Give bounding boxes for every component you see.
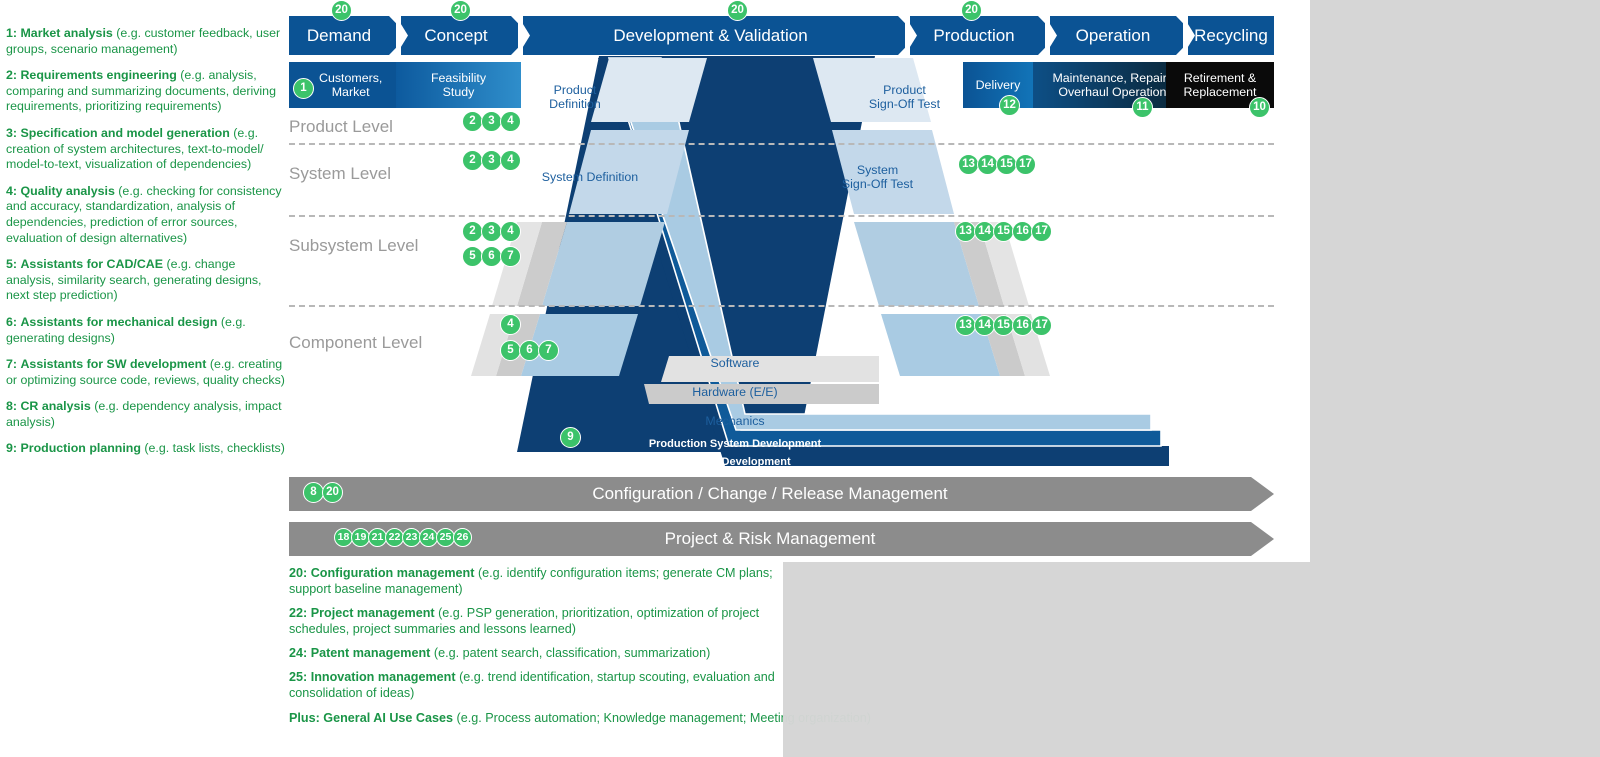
level-label-subsystem: Subsystem Level (289, 236, 418, 256)
level-label-component: Component Level (289, 333, 422, 353)
badge-4: 4 (500, 221, 521, 242)
badge-4: 4 (500, 111, 521, 132)
badge-14: 14 (974, 315, 995, 336)
banner-configuration-change-release[interactable]: Configuration / Change / Release Managem… (289, 477, 1251, 511)
banner-badges-configuration: 8 20 (303, 482, 341, 503)
legend-title: Project management (311, 606, 435, 620)
phase-demand[interactable]: Demand (289, 16, 389, 55)
legend-item: 22: Project management (e.g. PSP generat… (289, 605, 779, 637)
badge-8: 8 (303, 482, 324, 503)
level-divider (289, 215, 1274, 217)
fade-overlay-panel (783, 562, 1310, 757)
badge-3: 3 (481, 111, 502, 132)
legend-num: 1: (6, 26, 17, 40)
legend-num: 25: (289, 670, 307, 684)
legend-num: 20: (289, 566, 307, 580)
badge-2: 2 (462, 111, 483, 132)
legend-num: 4: (6, 184, 17, 198)
phase-label: Demand (307, 26, 371, 46)
phase-production[interactable]: Production (910, 16, 1038, 55)
legend-detail: (e.g. task lists, checklists) (144, 441, 284, 455)
badge-14: 14 (974, 221, 995, 242)
badge-20: 20 (727, 0, 748, 21)
v-label-system-signoff: System Sign-Off Test (825, 163, 930, 191)
cluster-production-planning: 9 (560, 427, 579, 448)
badge-13: 13 (958, 154, 979, 175)
legend-num: Plus: (289, 711, 320, 725)
badge-17: 17 (1031, 221, 1052, 242)
legend-title: Assistants for SW development (20, 357, 206, 371)
badge-3: 3 (481, 221, 502, 242)
phase-concept[interactable]: Concept (401, 16, 511, 55)
phase-ribbon: Demand Concept Development & Validation … (289, 16, 1274, 55)
phase-badge-demand: 20 (331, 0, 352, 21)
v-label-product-definition: Product Definition (530, 83, 620, 111)
phase-recycling[interactable]: Recycling (1188, 16, 1274, 55)
cluster-component-left-b: 5 6 7 (500, 340, 557, 361)
legend-title: Quality analysis (20, 184, 114, 198)
badge-6: 6 (519, 340, 540, 361)
phase-label: Production (933, 26, 1014, 46)
phase-badge-production: 20 (961, 0, 982, 21)
legend-num: 6: (6, 315, 17, 329)
badge-7: 7 (500, 246, 521, 267)
v-label-system-definition: System Definition (530, 170, 650, 184)
badge-9: 9 (560, 427, 581, 448)
phase-operation[interactable]: Operation (1050, 16, 1176, 55)
legend-item: 5: Assistants for CAD/CAE (e.g. change a… (6, 257, 286, 304)
badge-17: 17 (1031, 315, 1052, 336)
legend-item: 1: Market analysis (e.g. customer feedba… (6, 26, 286, 57)
badge-26: 26 (453, 528, 472, 547)
badge-16: 16 (1012, 315, 1033, 336)
phase-label: Concept (424, 26, 487, 46)
legend-title: Assistants for mechanical design (20, 315, 217, 329)
badge-2: 2 (462, 150, 483, 171)
stage-badge-retirement: 10 (1249, 97, 1268, 118)
stage-label: Delivery (976, 78, 1021, 92)
legend-item: 2: Requirements engineering (e.g. analys… (6, 68, 286, 115)
badge-5: 5 (462, 246, 483, 267)
phase-label: Operation (1076, 26, 1151, 46)
stage-label: Feasibility Study (431, 71, 486, 99)
banner-label: Project & Risk Management (665, 529, 876, 549)
banner-badges-project-risk: 18 19 21 22 23 24 25 26 (334, 528, 470, 547)
badge-2: 2 (462, 221, 483, 242)
cluster-subsystem-left-a: 2 3 4 (462, 221, 519, 242)
stage-label: Retirement & Replacement (1183, 71, 1256, 99)
v-label-product-signoff: Product Sign-Off Test (852, 83, 957, 111)
legend-title: Requirements engineering (20, 68, 176, 82)
legend-item: 9: Production planning (e.g. task lists,… (6, 441, 286, 457)
cluster-component-right: 13 14 15 16 17 (955, 315, 1050, 336)
v-label-production-system-dev: Production System Development (640, 437, 830, 451)
badge-3: 3 (481, 150, 502, 171)
v-label-hardware: Hardware (E/E) (675, 385, 795, 399)
badge-7: 7 (538, 340, 559, 361)
stage-badge-customers: 1 (293, 78, 312, 99)
stage-badge-delivery: 12 (999, 95, 1018, 116)
v-label-software: Software (685, 356, 785, 370)
legend-num: 3: (6, 126, 17, 140)
phase-badge-concept: 20 (450, 0, 471, 21)
bottom-legend: 20: Configuration management (e.g. ident… (289, 565, 779, 709)
badge-20: 20 (322, 482, 343, 503)
legend-item: 3: Specification and model generation (e… (6, 126, 286, 173)
legend-item: 7: Assistants for SW development (e.g. c… (6, 357, 286, 388)
legend-title: Production planning (20, 441, 140, 455)
legend-item: 25: Innovation management (e.g. trend id… (289, 669, 779, 701)
level-label-product: Product Level (289, 117, 393, 137)
badge-16: 16 (1012, 221, 1033, 242)
legend-num: 5: (6, 257, 17, 271)
badge-20: 20 (331, 0, 352, 21)
cluster-system-right: 13 14 15 17 (958, 154, 1034, 175)
badge-13: 13 (955, 315, 976, 336)
level-divider (289, 305, 1274, 307)
stage-label: Customers, Market (319, 71, 382, 99)
stage-badge-mro: 11 (1132, 97, 1151, 118)
badge-20: 20 (450, 0, 471, 21)
legend-detail: (e.g. patent search, classification, sum… (434, 646, 710, 660)
v-label-mechanics: Mechanics (685, 414, 785, 428)
badge-14: 14 (977, 154, 998, 175)
stage-delivery[interactable]: Delivery (963, 62, 1033, 108)
legend-title: Market analysis (20, 26, 112, 40)
cluster-subsystem-right: 13 14 15 16 17 (955, 221, 1050, 242)
legend-title: CR analysis (20, 399, 90, 413)
badge-4: 4 (500, 314, 521, 335)
level-divider (289, 143, 1274, 145)
phase-development-validation[interactable]: Development & Validation (523, 16, 898, 55)
legend-num: 24: (289, 646, 307, 660)
phase-badge-development: 20 (727, 0, 748, 21)
badge-1: 1 (293, 78, 314, 99)
badge-10: 10 (1249, 97, 1270, 118)
badge-5: 5 (500, 340, 521, 361)
legend-num: 9: (6, 441, 17, 455)
legend-num: 22: (289, 606, 307, 620)
level-label-system: System Level (289, 164, 391, 184)
legend-item: 24: Patent management (e.g. patent searc… (289, 645, 779, 661)
badge-11: 11 (1132, 97, 1153, 118)
badge-13: 13 (955, 221, 976, 242)
badge-4: 4 (500, 150, 521, 171)
legend-item: 8: CR analysis (e.g. dependency analysis… (6, 399, 286, 430)
legend-num: 7: (6, 357, 17, 371)
stage-feasibility-study[interactable]: Feasibility Study (396, 62, 521, 108)
badge-6: 6 (481, 246, 502, 267)
legend-num: 8: (6, 399, 17, 413)
badge-17: 17 (1015, 154, 1036, 175)
badge-15: 15 (993, 315, 1014, 336)
badge-15: 15 (996, 154, 1017, 175)
phase-label: Recycling (1194, 26, 1268, 46)
cluster-component-left-a: 4 (500, 314, 519, 335)
phase-label: Development & Validation (613, 26, 807, 46)
legend-title: General AI Use Cases (323, 711, 453, 725)
badge-12: 12 (999, 95, 1020, 116)
cluster-subsystem-left-b: 5 6 7 (462, 246, 519, 267)
legend-item: 20: Configuration management (e.g. ident… (289, 565, 779, 597)
left-legend: 1: Market analysis (e.g. customer feedba… (6, 26, 286, 468)
badge-15: 15 (993, 221, 1014, 242)
cluster-system-left: 2 3 4 (462, 150, 519, 171)
v-label-service-dev: Service Development (655, 455, 815, 469)
legend-title: Innovation management (311, 670, 456, 684)
legend-num: 2: (6, 68, 17, 82)
legend-title: Configuration management (311, 566, 475, 580)
legend-title: Patent management (311, 646, 431, 660)
banner-label: Configuration / Change / Release Managem… (592, 484, 947, 504)
cluster-product-left: 2 3 4 (462, 111, 519, 132)
badge-20: 20 (961, 0, 982, 21)
legend-title: Specification and model generation (20, 126, 229, 140)
legend-title: Assistants for CAD/CAE (20, 257, 163, 271)
v-model-graphic (289, 56, 1279, 466)
stage-label: Maintenance, Repair & Overhaul Operation… (1052, 71, 1178, 99)
legend-item: 6: Assistants for mechanical design (e.g… (6, 315, 286, 346)
legend-item: 4: Quality analysis (e.g. checking for c… (6, 184, 286, 246)
